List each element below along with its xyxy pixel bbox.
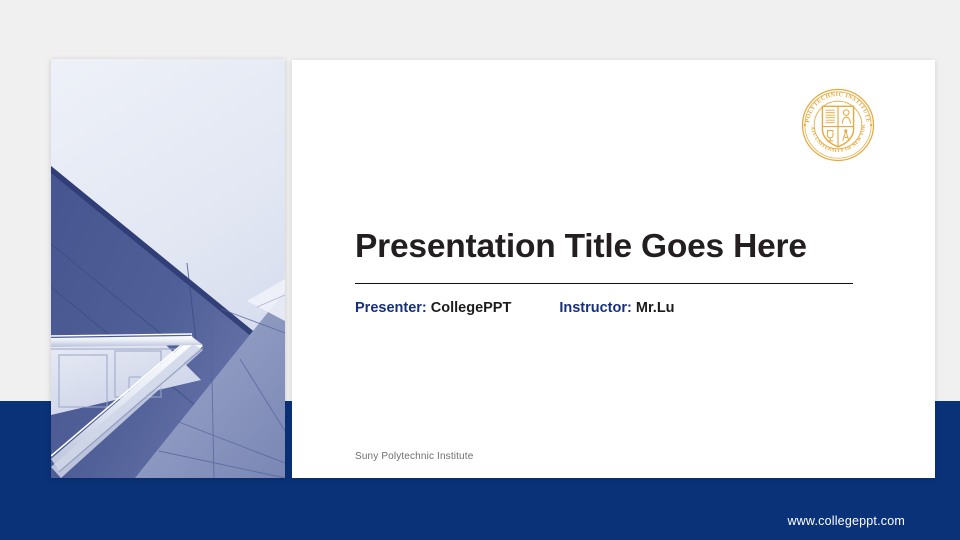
card-footer-text: Suny Polytechnic Institute [355, 451, 473, 462]
instructor-value: Mr.Lu [636, 300, 675, 316]
instructor-label: Instructor: [559, 300, 632, 316]
slide-canvas: www.collegeppt.com POLYTECHNIC INSTITUTE… [0, 0, 960, 540]
instructor-item: Instructor: Mr.Lu [559, 300, 674, 316]
presenter-item: Presenter: CollegePPT [355, 300, 511, 316]
presenter-label: Presenter: [355, 300, 427, 316]
title-divider [355, 283, 853, 284]
architecture-photo-image [51, 59, 285, 478]
institution-seal-logo: POLYTECHNIC INSTITUTE STATE UNIVERSITY O… [799, 86, 877, 164]
architecture-photo-panel [51, 59, 285, 478]
site-url-text: www.collegeppt.com [787, 514, 905, 528]
seal-icon: POLYTECHNIC INSTITUTE STATE UNIVERSITY O… [799, 86, 877, 164]
page-title: Presentation Title Goes Here [355, 228, 855, 266]
title-block: Presentation Title Goes Here Presenter: … [355, 228, 855, 316]
presenter-value: CollegePPT [431, 300, 512, 316]
content-card: POLYTECHNIC INSTITUTE STATE UNIVERSITY O… [292, 60, 935, 478]
presenter-meta-row: Presenter: CollegePPT Instructor: Mr.Lu [355, 300, 855, 316]
